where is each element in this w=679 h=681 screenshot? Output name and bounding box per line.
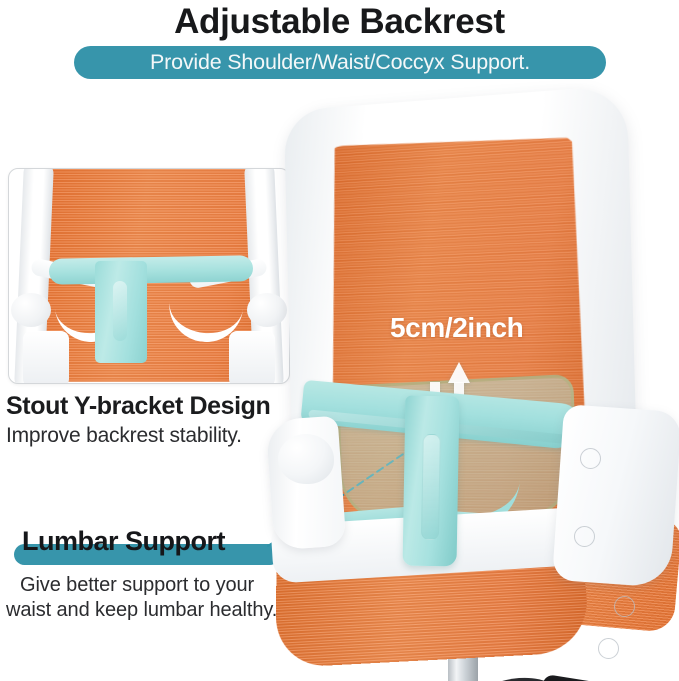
armrest-left-knob [278, 434, 334, 484]
screw-recess [580, 448, 601, 469]
lumbar-caption-line2: waist and keep lumbar healthy. [6, 599, 277, 622]
subtitle-badge-label: Provide Shoulder/Waist/Coccyx Support. [150, 50, 530, 75]
screw-recess [614, 596, 635, 617]
y-bracket-caption-title: Stout Y-bracket Design [6, 392, 270, 421]
lumbar-caption-heading: Lumbar Support [14, 526, 225, 562]
y-bracket-closeup-panel [8, 168, 290, 384]
screw-recess [598, 638, 619, 659]
screw-recess [574, 526, 595, 547]
page-title: Adjustable Backrest [0, 2, 679, 42]
product-feature-graphic: Adjustable Backrest Provide Shoulder/Wai… [0, 0, 679, 681]
lumbar-center-stem [403, 396, 460, 567]
lumbar-caption-line1: Give better support to your [20, 574, 254, 597]
subtitle-badge: Provide Shoulder/Waist/Coccyx Support. [74, 46, 606, 79]
base-arm-right [541, 674, 673, 681]
inset-knob-left [11, 293, 51, 327]
lumbar-caption-title: Lumbar Support [14, 526, 225, 557]
armrest-right [552, 404, 679, 588]
y-bracket-caption-body: Improve backrest stability. [6, 424, 242, 448]
office-chair-illustration: 5cm/2inch [262, 96, 679, 681]
inset-foot-left [23, 331, 69, 384]
measurement-label: 5cm/2inch [390, 312, 523, 344]
inset-y-stem [95, 261, 147, 363]
